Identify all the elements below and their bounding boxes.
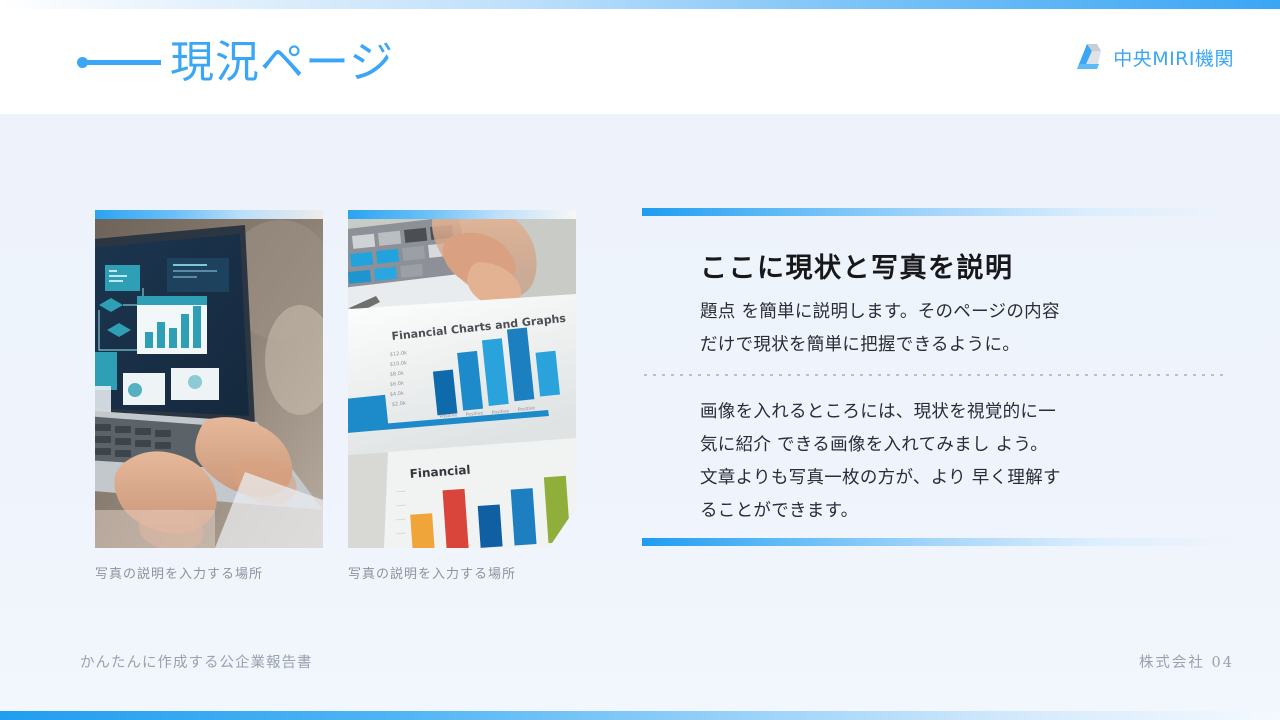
panel-paragraph-2-line-1: 画像を入れるところには、現状を視覚的に一 (700, 396, 1230, 429)
laptop-dashboard-photo[interactable] (95, 210, 323, 548)
panel-paragraph-1: 題点 を簡単に説明します。そのページの内容 だけで現状を簡単に把握できるように。 (700, 296, 1230, 362)
panel-paragraph-2-line-4: ることができます。 (700, 495, 1230, 528)
panel-paragraph-2: 画像を入れるところには、現状を視覚的に一 気に紹介 できる画像を入れてみまし よ… (700, 396, 1230, 528)
top-accent-strip (0, 0, 1280, 9)
panel-paragraph-1-line-2: だけで現状を簡単に把握できるように。 (700, 329, 1230, 362)
panel-dotted-divider (644, 374, 1228, 376)
brand-logo: 中央MIRI機関 (1071, 42, 1234, 72)
drive-triangle-logo-icon (1071, 42, 1103, 72)
footer-right-text: 株式会社 04 (1139, 651, 1234, 672)
page-title: 現況ページ (170, 33, 394, 93)
footer-left-text: かんたんに作成する公企業報告書 (80, 651, 313, 672)
panel-top-accent-bar (642, 208, 1234, 216)
description-panel: ここに現状と写真を説明 題点 を簡単に説明します。そのページの内容 だけで現状を… (642, 208, 1234, 553)
slide-header: 現況ページ 中央MIRI機関 (0, 0, 1280, 114)
financial-charts-illustration: Financial Charts and Graphs $12.0k $10.0… (348, 210, 576, 548)
photo-caption-1: 写真の説明を入力する場所 (95, 563, 263, 582)
laptop-dashboard-illustration (95, 210, 323, 548)
title-rule-icon (86, 60, 161, 65)
panel-paragraph-2-line-3: 文章よりも写真一枚の方が、より 早く理解す (700, 462, 1230, 495)
panel-paragraph-1-line-1: 題点 を簡単に説明します。そのページの内容 (700, 296, 1230, 329)
panel-bottom-accent-bar (642, 538, 1234, 546)
bottom-accent-strip (0, 711, 1280, 720)
photo-accent-bar (348, 210, 576, 219)
panel-heading: ここに現状と写真を説明 (700, 246, 1014, 285)
photo-caption-2: 写真の説明を入力する場所 (348, 563, 516, 582)
financial-charts-photo[interactable]: Financial Charts and Graphs $12.0k $10.0… (348, 210, 576, 548)
brand-name: 中央MIRI機関 (1113, 44, 1234, 71)
photo-accent-bar (95, 210, 323, 219)
panel-paragraph-2-line-2: 気に紹介 できる画像を入れてみまし よう。 (700, 429, 1230, 462)
